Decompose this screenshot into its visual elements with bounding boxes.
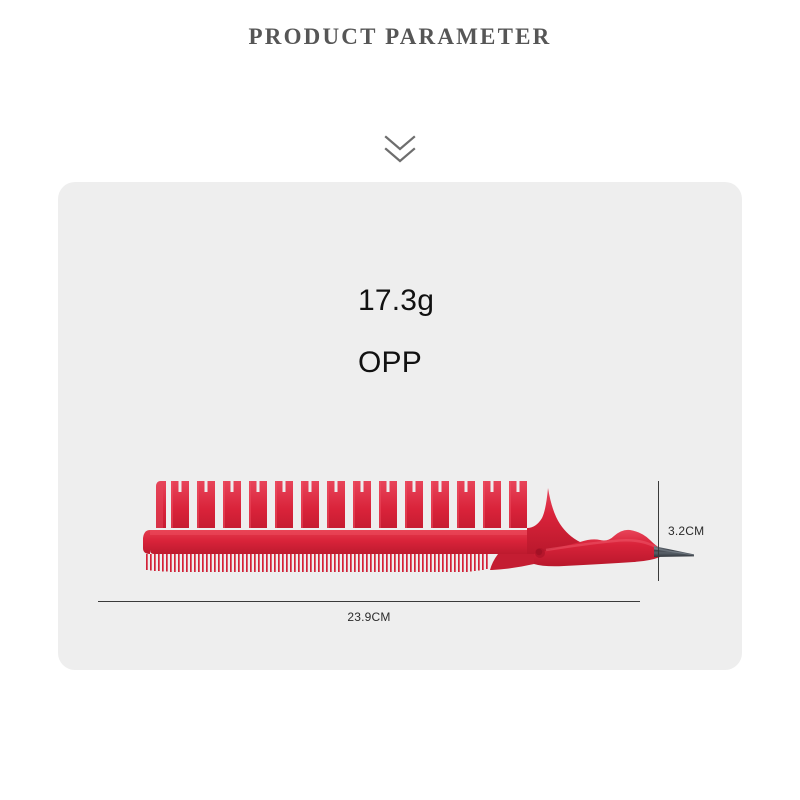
spec-text-block: 17.3g OPP — [358, 285, 434, 378]
rat-tail-comb-icon — [94, 468, 704, 582]
comb-spine — [143, 530, 534, 554]
spec-weight-value: 17.3g — [358, 285, 434, 317]
height-measure-line — [658, 481, 659, 581]
double-chevron-down-icon — [378, 133, 422, 167]
section-divider — [0, 133, 800, 167]
page-title: PRODUCT PARAMETER — [0, 24, 800, 50]
wide-teeth-group — [156, 481, 527, 528]
product-parameter-card: 17.3g OPP — [58, 182, 742, 670]
height-measure-label: 3.2CM — [668, 524, 704, 538]
fine-teeth-group — [146, 554, 488, 572]
spec-material-value: OPP — [358, 347, 434, 379]
metal-pin-tail — [654, 546, 694, 557]
length-measure-label: 23.9CM — [98, 610, 640, 624]
product-illustration — [94, 468, 704, 582]
length-measure-line — [98, 601, 640, 602]
